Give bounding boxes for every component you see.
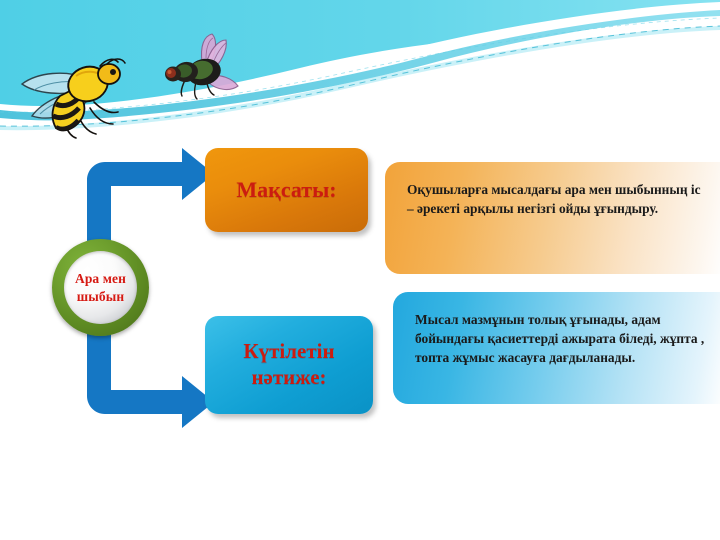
arrow-to-result-icon — [78, 330, 218, 440]
result-content-text: Мысал мазмұнын толық ұғынады, адам бойын… — [415, 310, 709, 367]
fly-illustration — [160, 32, 248, 104]
bee-illustration — [8, 48, 138, 146]
result-label-box: Күтілетін нәтиже: — [205, 316, 373, 414]
goal-content-panel: Оқушыларға мысалдағы ара мен шыбынның іс… — [385, 162, 720, 274]
arrow-to-goal-icon — [78, 144, 218, 254]
result-label-text: Күтілетін нәтиже: — [243, 339, 334, 390]
goal-content-text: Оқушыларға мысалдағы ара мен шыбынның іс… — [407, 180, 709, 218]
goal-label-box: Мақсаты: — [205, 148, 368, 232]
goal-label-text: Мақсаты: — [236, 177, 336, 204]
topic-circle: Ара мен шыбын — [52, 239, 149, 336]
topic-circle-label: Ара мен шыбын — [75, 270, 126, 305]
slide-canvas: Ара мен шыбын Мақсаты: Оқушыларға мысалд… — [0, 0, 720, 540]
topic-circle-inner: Ара мен шыбын — [64, 251, 137, 324]
result-content-panel: Мысал мазмұнын толық ұғынады, адам бойын… — [393, 292, 720, 404]
